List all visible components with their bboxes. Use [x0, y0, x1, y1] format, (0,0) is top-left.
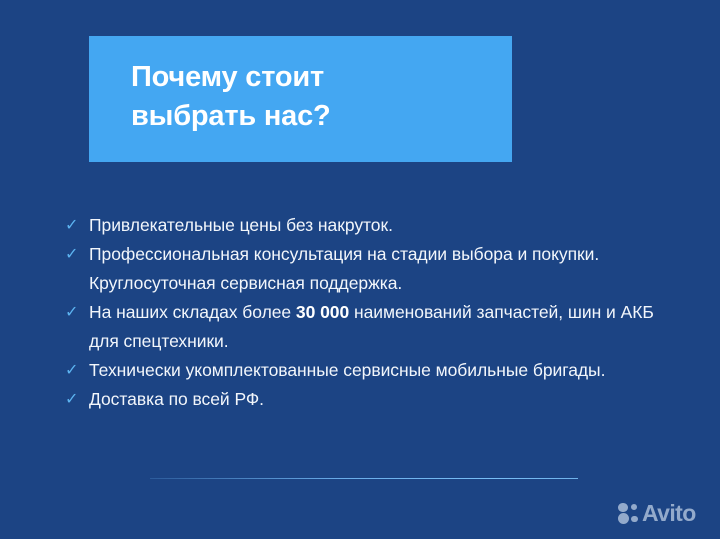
list-item-label: Доставка по всей РФ. — [89, 385, 664, 414]
list-item: ✓Технически укомплектованные сервисные м… — [64, 356, 664, 385]
check-icon: ✓ — [64, 240, 89, 269]
check-icon: ✓ — [64, 356, 89, 385]
list-item: ✓На наших складах более 30 000 наименова… — [64, 298, 664, 356]
list-item-label: Технически укомплектованные сервисные мо… — [89, 356, 664, 385]
list-item: ✓Профессиональная консультация на стадии… — [64, 240, 664, 298]
slide-canvas: Почему стоит выбрать нас? ✓Привлекательн… — [0, 0, 720, 539]
check-icon: ✓ — [64, 385, 89, 414]
benefits-list: ✓Привлекательные цены без накруток.✓Проф… — [64, 211, 664, 414]
check-icon: ✓ — [64, 211, 89, 240]
list-item: ✓Доставка по всей РФ. — [64, 385, 664, 414]
check-icon: ✓ — [64, 298, 89, 327]
avito-dots-icon — [618, 502, 640, 524]
list-item: ✓Привлекательные цены без накруток. — [64, 211, 664, 240]
avito-watermark: Avito — [618, 498, 704, 528]
list-item-label: Привлекательные цены без накруток. — [89, 211, 664, 240]
list-item-label: Профессиональная консультация на стадии … — [89, 240, 664, 298]
list-item-label: На наших складах более 30 000 наименован… — [89, 298, 664, 356]
avito-wordmark: Avito — [642, 502, 696, 525]
divider-line — [150, 478, 578, 479]
heading-banner: Почему стоит выбрать нас? — [89, 36, 512, 162]
emphasis-number: 30 000 — [296, 302, 349, 322]
page-title: Почему стоит выбрать нас? — [131, 58, 491, 136]
